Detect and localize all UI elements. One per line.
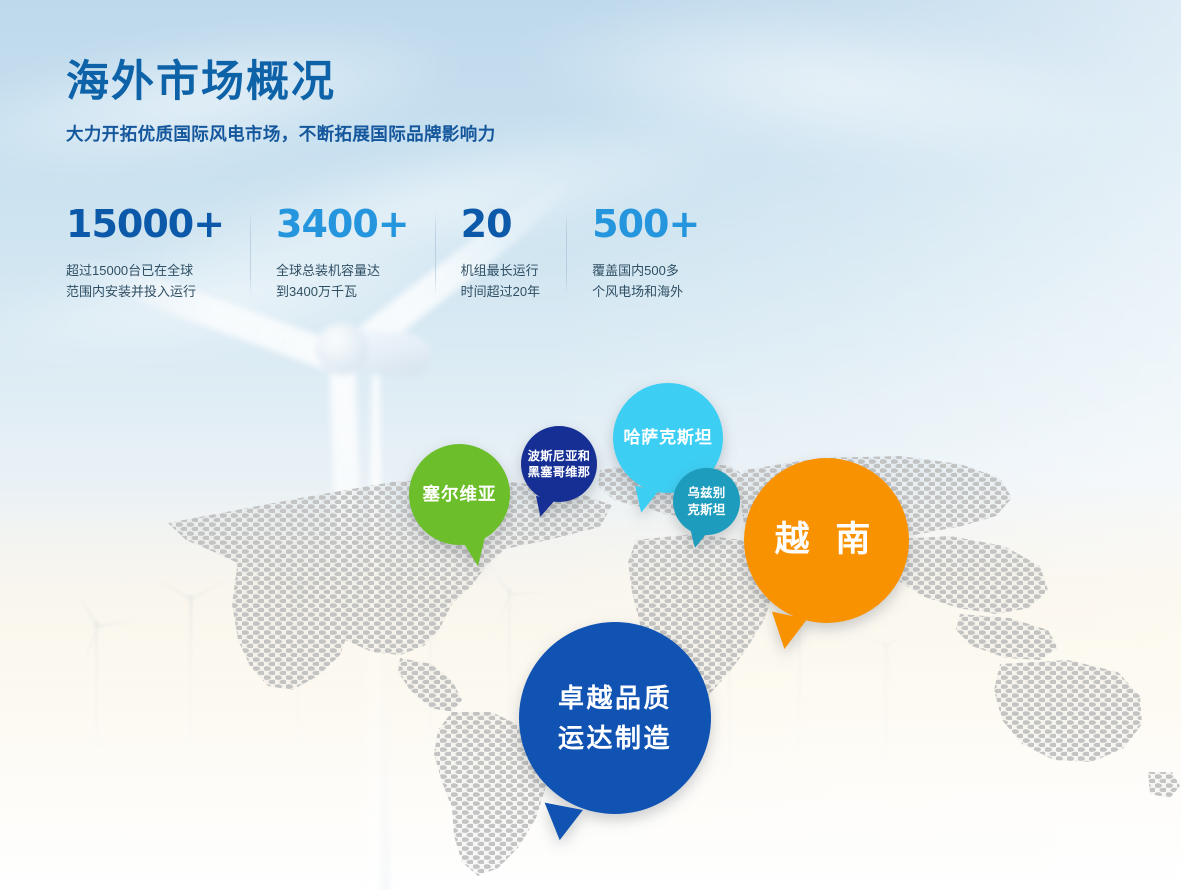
bubble-tail: [538, 803, 583, 844]
map-marker-label: 塞尔维亚: [417, 483, 503, 506]
stat-item-installed-units: 15000+ 超过15000台已在全球 范围内安装并投入运行: [66, 205, 250, 303]
map-marker-vietnam[interactable]: 越 南: [744, 458, 909, 623]
map-marker-label: 哈萨克斯坦: [618, 427, 719, 450]
statistics-strip: 15000+ 超过15000台已在全球 范围内安装并投入运行 3400+ 全球总…: [66, 205, 725, 303]
page-subtitle: 大力开拓优质国际风电市场，不断拓展国际品牌影响力: [66, 121, 496, 146]
stat-value: 20: [461, 205, 540, 243]
map-marker-label: 波斯尼亚和 黑塞哥维那: [522, 448, 596, 481]
map-marker-serbia[interactable]: 塞尔维亚: [409, 444, 510, 545]
stat-description: 超过15000台已在全球 范围内安装并投入运行: [66, 260, 224, 303]
stat-description: 全球总装机容量达 到3400万千瓦: [276, 260, 409, 303]
brand-slogan-label: 卓越品质 运达制造: [552, 678, 678, 759]
stat-description: 覆盖国内500多 个风电场和海外: [592, 260, 699, 303]
stat-value: 3400+: [276, 205, 409, 243]
stat-value: 15000+: [66, 205, 224, 243]
stat-item-wind-farm-coverage: 500+ 覆盖国内500多 个风电场和海外: [566, 205, 725, 303]
map-marker-label: 乌兹别 克斯坦: [681, 485, 731, 518]
map-marker-bosnia-herzegovina[interactable]: 波斯尼亚和 黑塞哥维那: [521, 426, 597, 502]
header-block: 海外市场概况 大力开拓优质国际风电市场，不断拓展国际品牌影响力: [66, 60, 496, 146]
stat-item-longest-operation: 20 机组最长运行 时间超过20年: [435, 205, 566, 303]
stat-value: 500+: [592, 205, 699, 243]
page-title: 海外市场概况: [66, 60, 496, 105]
stat-item-total-capacity: 3400+ 全球总装机容量达 到3400万千瓦: [250, 205, 435, 303]
brand-slogan-bubble[interactable]: 卓越品质 运达制造: [519, 622, 711, 814]
map-marker-uzbekistan[interactable]: 乌兹别 克斯坦: [673, 468, 740, 535]
stat-description: 机组最长运行 时间超过20年: [461, 260, 540, 303]
map-marker-label: 越 南: [769, 517, 885, 564]
bubble-tail: [765, 612, 807, 653]
overseas-market-poster: 海外市场概况 大力开拓优质国际风电市场，不断拓展国际品牌影响力 15000+ 超…: [0, 0, 1181, 890]
